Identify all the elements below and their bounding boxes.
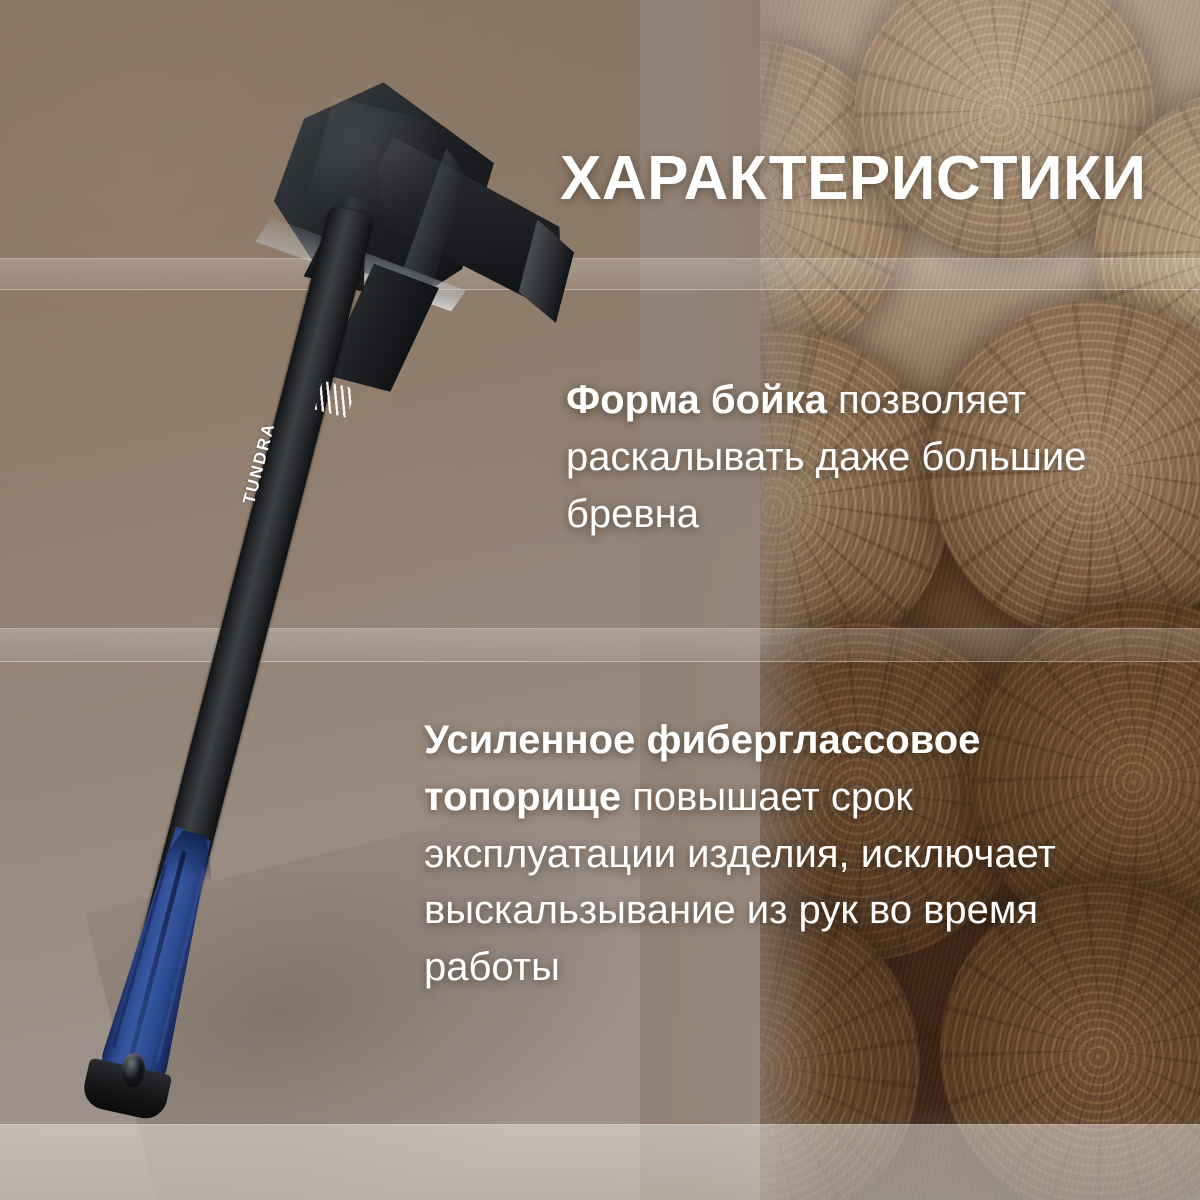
feature-1-bold: Форма бойка [566,378,827,422]
feature-item-1: Форма бойка позволяет раскалывать даже б… [566,372,1186,542]
product-feature-card: TUNDRA ХАРАКТЕРИСТИКИ Форма бойка позвол… [0,0,1200,1200]
feature-item-2: Усиленное фибергласcовое топорище повыша… [424,712,1124,996]
page-title: ХАРАКТЕРИСТИКИ [560,146,1146,211]
diagonal-stripes-icon [315,380,355,418]
